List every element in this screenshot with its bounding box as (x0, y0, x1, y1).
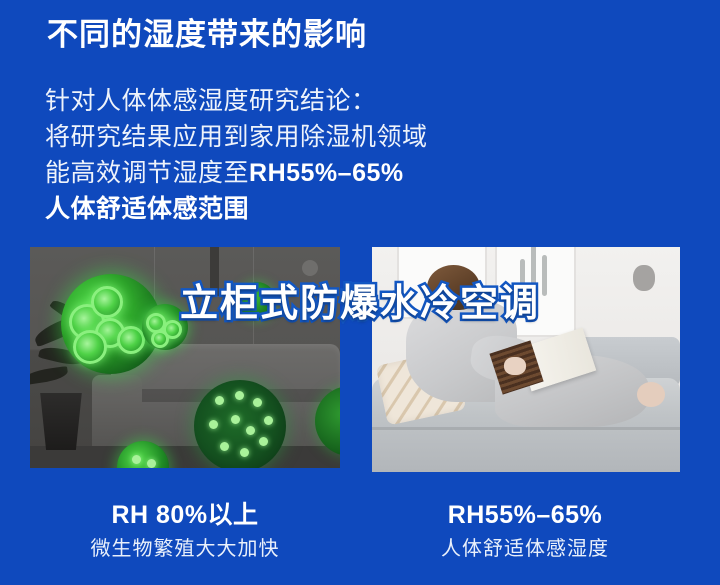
caption-left-sub: 微生物繁殖大大加快 (25, 534, 345, 564)
body-line-3-value: RH55%–65% (249, 159, 404, 187)
page-title: 不同的湿度带来的影响 (47, 16, 367, 53)
body-line-1: 针对人体体感湿度研究结论： (45, 83, 428, 119)
person-foot (637, 382, 665, 407)
body-line-3: 能高效调节湿度至RH55%–65% (45, 155, 428, 191)
caption-left: RH 80%以上 微生物繁殖大大加快 (25, 500, 345, 564)
person-hand (504, 357, 526, 375)
microbe-cell (117, 326, 145, 354)
product-title-overlay: 立柜式防爆水冷空调 (0, 272, 720, 327)
microbe-cell (73, 330, 107, 364)
body-line-3-prefix: 能高效调节湿度至 (45, 159, 249, 187)
poster-root: 不同的湿度带来的影响 针对人体体感湿度研究结论： 将研究结果应用到家用除湿机领域… (0, 0, 720, 585)
virus-sphere-large (194, 380, 286, 468)
body-line-2: 将研究结果应用到家用除湿机领域 (45, 119, 428, 155)
caption-right-sub: 人体舒适体感湿度 (365, 534, 685, 564)
dark-floor (30, 446, 340, 468)
body-text-block: 针对人体体感湿度研究结论： 将研究结果应用到家用除湿机领域 能高效调节湿度至RH… (45, 83, 428, 227)
caption-right-main: RH55%–65% (365, 500, 685, 530)
caption-right: RH55%–65% 人体舒适体感湿度 (365, 500, 685, 564)
body-line-4: 人体舒适体感范围 (45, 191, 428, 227)
microbe-cell (151, 330, 169, 348)
caption-left-main: RH 80%以上 (25, 500, 345, 530)
